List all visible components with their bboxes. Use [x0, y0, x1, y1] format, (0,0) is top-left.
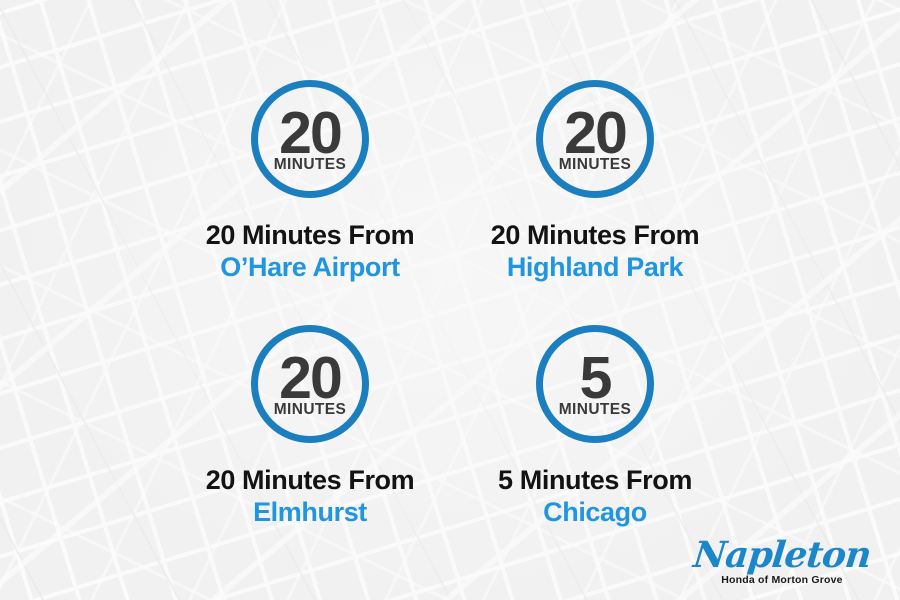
logo-wordmark: Napleton: [690, 537, 874, 573]
minutes-badge-circle: 20 MINUTES: [251, 80, 369, 198]
badge-card-highland-park: 20 MINUTES 20 Minutes From Highland Park: [425, 80, 765, 284]
badge-caption: 20 Minutes From Highland Park: [425, 220, 765, 284]
caption-destination: Chicago: [425, 497, 765, 529]
badge-number: 20: [564, 108, 626, 159]
badge-number: 20: [279, 353, 341, 404]
badge-unit-label: MINUTES: [559, 401, 632, 419]
badge-unit-label: MINUTES: [274, 401, 347, 419]
badge-grid: 20 MINUTES 20 Minutes From O’Hare Airpor…: [0, 0, 900, 600]
badge-card-chicago: 5 MINUTES 5 Minutes From Chicago: [425, 325, 765, 529]
minutes-badge-circle: 20 MINUTES: [251, 325, 369, 443]
minutes-badge-circle: 20 MINUTES: [536, 80, 654, 198]
badge-number: 5: [580, 353, 611, 404]
napleton-logo: Napleton Honda of Morton Grove: [692, 537, 872, 586]
caption-primary: 5 Minutes From: [425, 465, 765, 497]
caption-destination: Highland Park: [425, 252, 765, 284]
badge-number: 20: [279, 108, 341, 159]
minutes-badge-circle: 5 MINUTES: [536, 325, 654, 443]
badge-unit-label: MINUTES: [274, 156, 347, 174]
caption-primary: 20 Minutes From: [425, 220, 765, 252]
badge-caption: 5 Minutes From Chicago: [425, 465, 765, 529]
promo-graphic: 20 MINUTES 20 Minutes From O’Hare Airpor…: [0, 0, 900, 600]
badge-unit-label: MINUTES: [559, 156, 632, 174]
